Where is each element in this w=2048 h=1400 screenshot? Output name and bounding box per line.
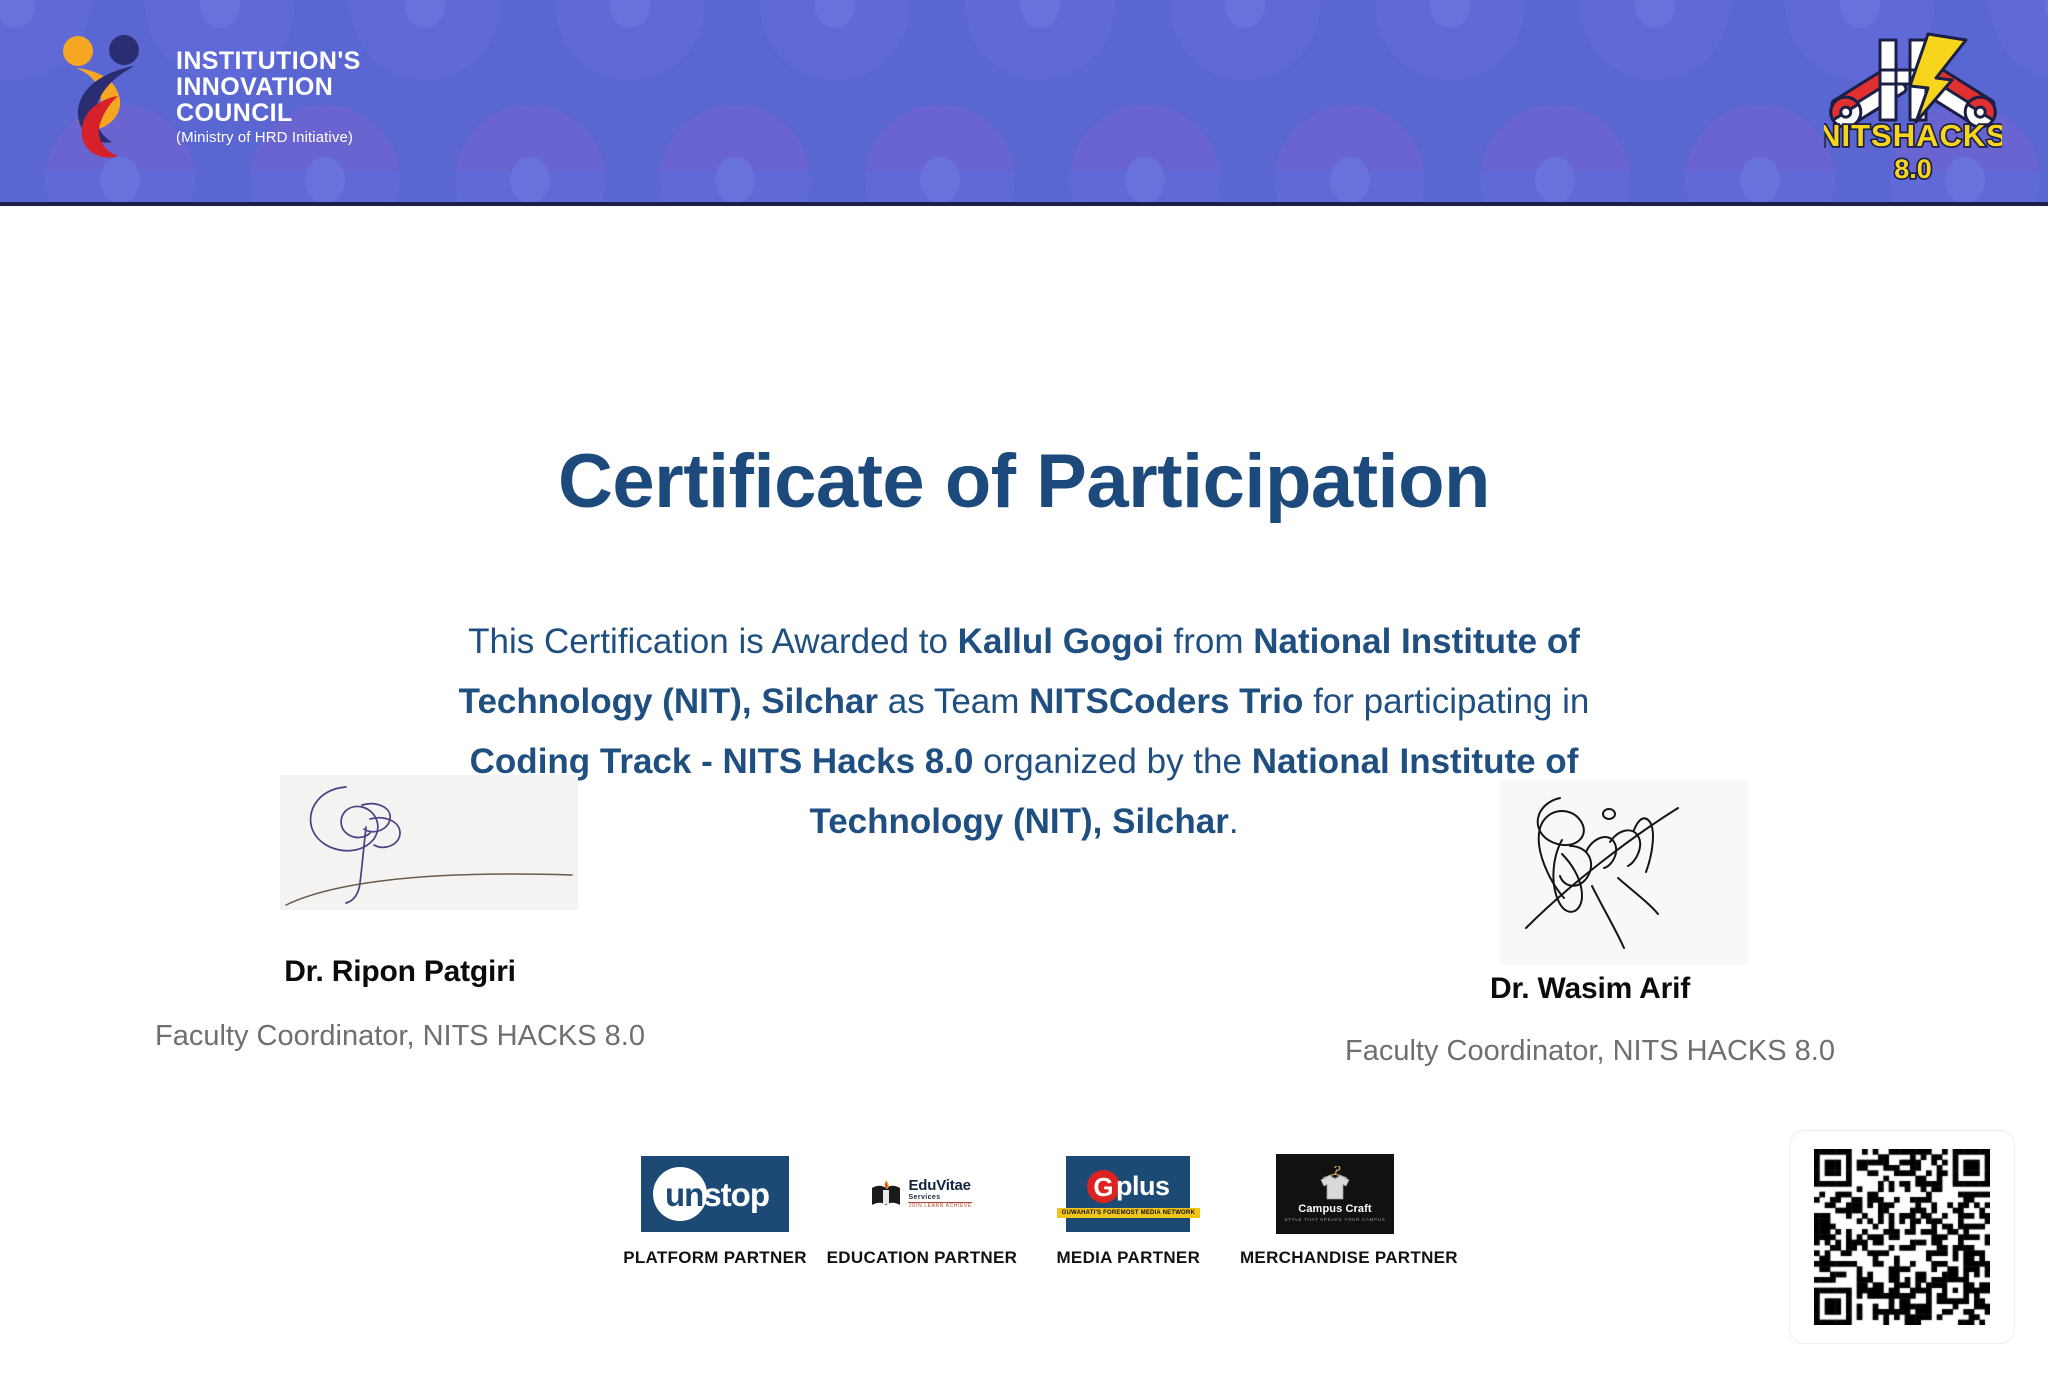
signatory-role-left: Faculty Coordinator, NITS HACKS 8.0	[110, 1020, 690, 1053]
partner-media: G plus GUWAHATI'S FOREMOST MEDIA NETWORK…	[1033, 1152, 1223, 1268]
unstop-un: un	[665, 1176, 703, 1213]
body-segment-5: NITSCoders Trio	[1029, 682, 1303, 721]
iic-line-3: COUNCIL	[176, 100, 361, 126]
body-segment-8: organized by the	[973, 742, 1251, 781]
signature-wasim-arif	[1500, 780, 1748, 965]
partner-platform: unstop PLATFORM PARTNER	[620, 1152, 810, 1268]
eduvitae-sub: Services	[908, 1194, 971, 1201]
iic-logo: INSTITUTION'S INNOVATION COUNCIL (Minist…	[52, 34, 361, 160]
partner-label-education: EDUCATION PARTNER	[827, 1248, 1017, 1268]
eduvitae-tagline: JOIN LEARN ACHIEVE	[908, 1204, 971, 1209]
certificate-body-text: This Certification is Awarded to Kallul …	[424, 612, 1624, 852]
signatory-name-right: Dr. Wasim Arif	[1300, 972, 1880, 1006]
partner-merchandise: Campus Craft STYLE THAT SPEAKS YOUR CAMP…	[1240, 1152, 1430, 1268]
partners-row: unstop PLATFORM PARTNER	[620, 1128, 1430, 1268]
body-segment-1: Kallul Gogoi	[958, 622, 1164, 661]
qr-code[interactable]	[1814, 1149, 1990, 1325]
campus-craft-logo: Campus Craft STYLE THAT SPEAKS YOUR CAMP…	[1276, 1154, 1394, 1234]
campus-craft-logo-wrap: Campus Craft STYLE THAT SPEAKS YOUR CAMP…	[1240, 1152, 1430, 1236]
iic-logo-text: INSTITUTION'S INNOVATION COUNCIL (Minist…	[176, 48, 361, 146]
gplus-logo: G plus GUWAHATI'S FOREMOST MEDIA NETWORK	[1066, 1156, 1190, 1232]
body-segment-10: .	[1229, 802, 1239, 841]
iic-ministry-note: (Ministry of HRD Initiative)	[176, 130, 361, 146]
eduvitae-text: EduVitae Services JOIN LEARN ACHIEVE	[908, 1178, 971, 1209]
eduvitae-logo-wrap: EduVitae Services JOIN LEARN ACHIEVE	[827, 1152, 1017, 1236]
iic-line-1: INSTITUTION'S	[176, 48, 361, 74]
iic-emblem-icon	[52, 34, 156, 160]
body-segment-4: as Team	[878, 682, 1029, 721]
svg-text:8.0: 8.0	[1894, 154, 1932, 184]
signature-ripon-patgiri	[280, 775, 578, 910]
partner-education: EduVitae Services JOIN LEARN ACHIEVE EDU…	[827, 1152, 1017, 1268]
unstop-wordmark: unstop	[665, 1178, 769, 1211]
partner-label-merchandise: MERCHANDISE PARTNER	[1240, 1248, 1430, 1268]
svg-text:NITSHACKS: NITSHACKS	[1824, 118, 2002, 153]
signatory-name-left: Dr. Ripon Patgiri	[110, 955, 690, 989]
eduvitae-brand: EduVitae	[908, 1178, 971, 1194]
gplus-tagline: GUWAHATI'S FOREMOST MEDIA NETWORK	[1057, 1208, 1200, 1218]
unstop-stop: stop	[703, 1176, 769, 1213]
page-title: Certificate of Participation	[0, 438, 2048, 525]
nitshacks-logo-icon: NITSHACKS 8.0	[1824, 18, 2002, 186]
gplus-wordmark: G plus	[1087, 1170, 1170, 1203]
qr-code-canvas	[1814, 1149, 1990, 1325]
iic-line-2: INNOVATION	[176, 74, 361, 100]
qr-code-card[interactable]	[1790, 1131, 2014, 1343]
body-segment-6: for participating in	[1303, 682, 1589, 721]
unstop-logo: unstop	[641, 1156, 789, 1232]
partner-label-media: MEDIA PARTNER	[1033, 1248, 1223, 1268]
gplus-logo-wrap: G plus GUWAHATI'S FOREMOST MEDIA NETWORK	[1033, 1152, 1223, 1236]
body-segment-2: from	[1164, 622, 1253, 661]
certificate-header: INSTITUTION'S INNOVATION COUNCIL (Minist…	[0, 0, 2048, 206]
unstop-logo-wrap: unstop	[620, 1152, 810, 1236]
tshirt-hanger-icon	[1319, 1166, 1351, 1200]
eduvitae-logo: EduVitae Services JOIN LEARN ACHIEVE	[871, 1178, 971, 1209]
certificate-page: INSTITUTION'S INNOVATION COUNCIL (Minist…	[0, 0, 2048, 1400]
signatory-role-right: Faculty Coordinator, NITS HACKS 8.0	[1300, 1035, 1880, 1068]
campus-craft-tagline: STYLE THAT SPEAKS YOUR CAMPUS	[1284, 1217, 1385, 1222]
campus-craft-brand: Campus Craft	[1298, 1203, 1371, 1215]
book-candle-icon	[871, 1180, 901, 1208]
partner-label-platform: PLATFORM PARTNER	[620, 1248, 810, 1268]
body-segment-0: This Certification is Awarded to	[468, 622, 958, 661]
gplus-plus-text: plus	[1116, 1173, 1170, 1200]
